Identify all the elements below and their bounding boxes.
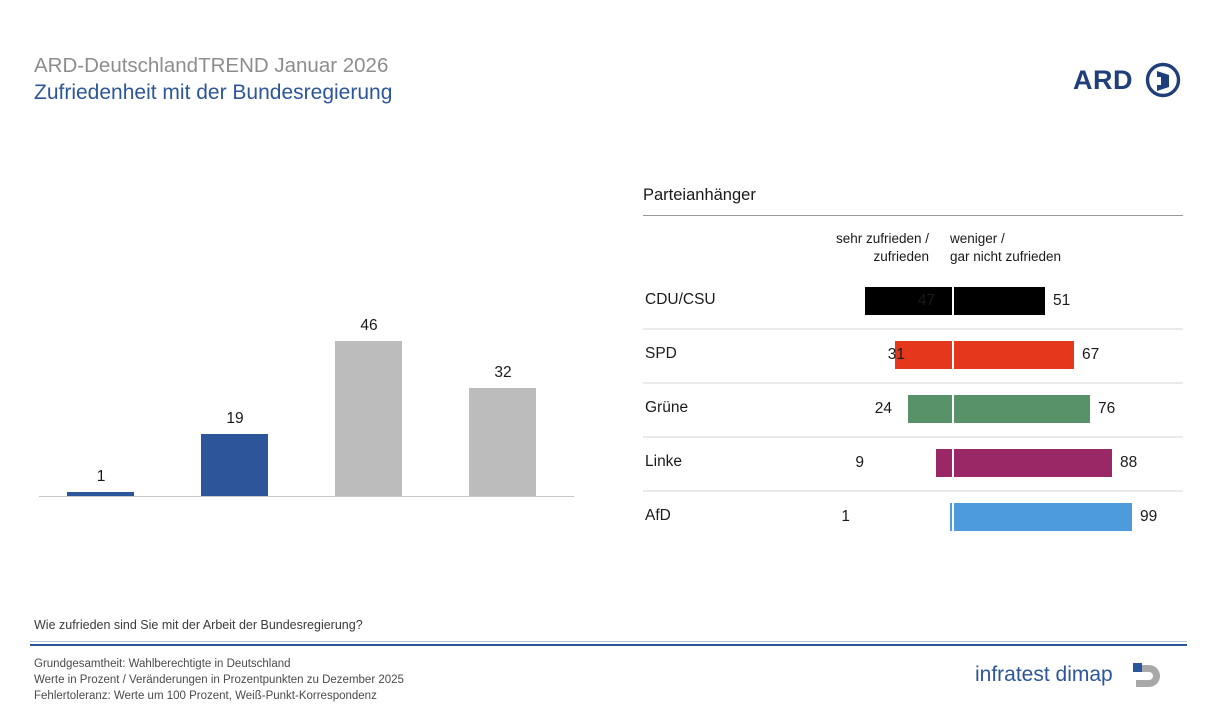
value-left-linke: 9 <box>824 454 864 472</box>
table-row: Linke 9 88 <box>643 436 1183 490</box>
footnote-line-1: Grundgesamtheit: Wahlberechtigte in Deut… <box>34 656 404 672</box>
value-right-afd: 99 <box>1140 508 1180 526</box>
bar-divider <box>952 341 954 369</box>
row-separator <box>643 382 1183 384</box>
value-left-gruene: 24 <box>852 400 892 418</box>
footer-rule-light <box>30 641 1187 642</box>
svg-text:ARD: ARD <box>1073 65 1133 95</box>
bar-divider <box>952 449 954 477</box>
column-header-satisfied: sehr zufrieden / zufrieden <box>743 230 929 266</box>
bar-right-gruene <box>953 395 1090 423</box>
bar-divider <box>952 503 954 531</box>
header: ARD-DeutschlandTREND Januar 2026 Zufried… <box>34 52 392 107</box>
bar-value-gar-nicht-zufrieden: 32 <box>436 364 570 382</box>
bar-left-linke <box>936 449 953 477</box>
bar-value-zufrieden: 19 <box>168 410 302 428</box>
bar-zone: 31 67 <box>643 341 1183 369</box>
bar-weniger-zufrieden <box>335 341 402 496</box>
bar-value-weniger-zufrieden: 46 <box>302 317 436 335</box>
footer-rule-blue <box>30 644 1187 646</box>
column-header-unsatisfied: weniger / gar nicht zufrieden <box>950 230 1180 266</box>
bar-right-linke <box>953 449 1112 477</box>
column-header-unsatisfied-line2: gar nicht zufrieden <box>950 248 1180 266</box>
table-row: Grüne 24 76 <box>643 382 1183 436</box>
bar-zone: 9 88 <box>643 449 1183 477</box>
table-row: CDU/CSU 47 51 <box>643 274 1183 328</box>
bar-wrap: 46 <box>302 300 436 496</box>
bar-value-sehr-zufrieden: 1 <box>34 468 168 486</box>
page-title: Zufriedenheit mit der Bundesregierung <box>34 79 392 107</box>
bar-wrap: 32 <box>436 300 570 496</box>
footnote-line-2: Werte in Prozent / Veränderungen in Proz… <box>34 672 404 688</box>
bar-zone: 24 76 <box>643 395 1183 423</box>
footnotes: Grundgesamtheit: Wahlberechtigte in Deut… <box>34 656 404 704</box>
table-caption: Parteianhänger <box>643 186 1183 215</box>
table-row: AfD 1 99 <box>643 490 1183 544</box>
satisfaction-bar-chart: 1 sehr zufrieden ±0 19 zufrieden ±0 <box>34 300 579 580</box>
poll-infographic: ARD-DeutschlandTREND Januar 2026 Zufried… <box>0 0 1217 711</box>
bar-divider <box>952 287 954 315</box>
chart-baseline <box>39 496 574 497</box>
bar-wrap: 1 <box>34 300 168 496</box>
value-right-gruene: 76 <box>1098 400 1138 418</box>
table-row: SPD 31 67 <box>643 328 1183 382</box>
row-separator <box>643 490 1183 492</box>
bar-right-spd <box>953 341 1074 369</box>
row-separator <box>643 436 1183 438</box>
bar-wrap: 19 <box>168 300 302 496</box>
value-left-cdu-csu: 47 <box>895 292 935 310</box>
row-separator <box>643 328 1183 330</box>
value-right-linke: 88 <box>1120 454 1160 472</box>
bar-gar-nicht-zufrieden <box>469 388 536 496</box>
value-left-spd: 31 <box>865 346 905 364</box>
infratest-dimap-logo: infratest dimap <box>975 659 1175 689</box>
bar-zone: 1 99 <box>643 503 1183 531</box>
bar-right-cdu-csu <box>953 287 1045 315</box>
table-column-headers: sehr zufrieden / zufrieden weniger / gar… <box>643 216 1183 274</box>
column-header-unsatisfied-line1: weniger / <box>950 230 1180 248</box>
ard-logo: ARD <box>1073 62 1181 98</box>
survey-question: Wie zufrieden sind Sie mit der Arbeit de… <box>34 618 363 632</box>
bar-divider <box>952 395 954 423</box>
bar-sehr-zufrieden <box>67 492 134 496</box>
column-header-satisfied-line2: zufrieden <box>743 248 929 266</box>
column-header-satisfied-line1: sehr zufrieden / <box>743 230 929 248</box>
ard-logo-svg: ARD <box>1073 62 1181 98</box>
bar-zufrieden <box>201 434 268 496</box>
value-right-cdu-csu: 51 <box>1053 292 1093 310</box>
header-kicker: ARD-DeutschlandTREND Januar 2026 <box>34 52 392 79</box>
value-left-afd: 1 <box>810 508 850 526</box>
svg-text:infratest dimap: infratest dimap <box>975 663 1113 686</box>
party-supporters-table: Parteianhänger sehr zufrieden / zufriede… <box>643 186 1183 544</box>
bar-right-afd <box>953 503 1132 531</box>
footnote-line-3: Fehlertoleranz: Werte um 100 Prozent, We… <box>34 688 404 704</box>
value-right-spd: 67 <box>1082 346 1122 364</box>
infratest-dimap-logo-svg: infratest dimap <box>975 659 1175 689</box>
bar-left-gruene <box>908 395 953 423</box>
bar-zone: 47 51 <box>643 287 1183 315</box>
